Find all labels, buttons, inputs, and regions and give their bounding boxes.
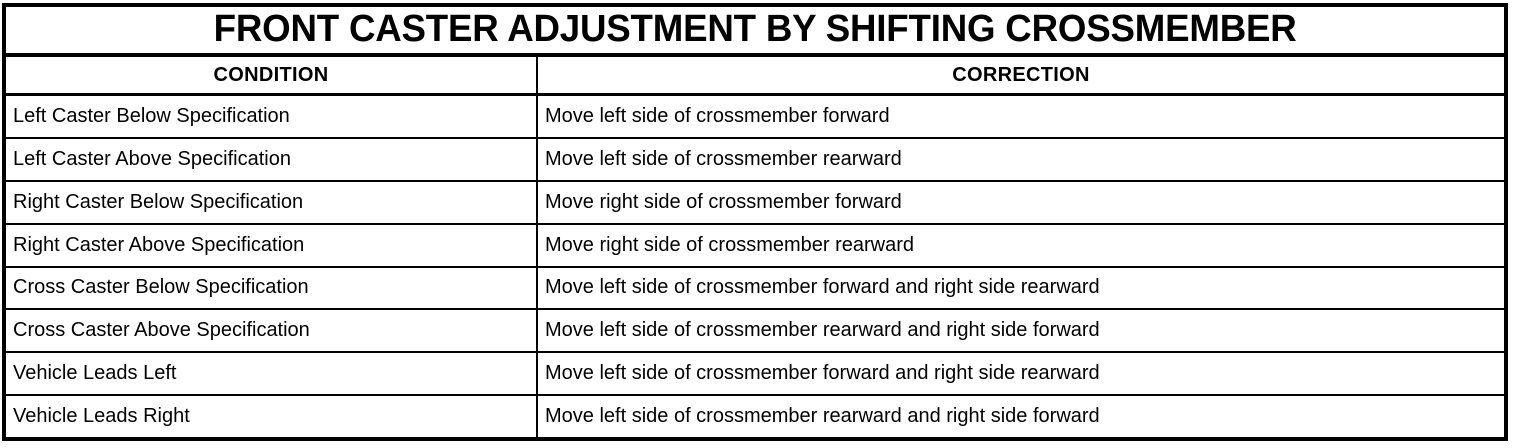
cell-correction: Move left side of crossmember forward an… [538,268,1504,309]
cell-condition: Cross Caster Below Specification [6,268,538,309]
cell-correction-text: Move left side of crossmember rearward a… [545,406,1100,427]
column-header-condition-label: CONDITION [214,65,329,85]
cell-correction: Move left side of crossmember forward [538,96,1504,137]
caster-adjustment-table: FRONT CASTER ADJUSTMENT BY SHIFTING CROS… [2,3,1508,441]
cell-correction-text: Move left side of crossmember forward an… [545,363,1100,384]
table-row: Left Caster Above Specification Move lef… [6,139,1504,182]
cell-correction-text: Move left side of crossmember rearward [545,149,902,170]
table-row: Cross Caster Above Specification Move le… [6,310,1504,353]
cell-condition-text: Vehicle Leads Right [13,406,190,427]
cell-condition-text: Left Caster Above Specification [13,149,291,170]
table-row: Vehicle Leads Right Move left side of cr… [6,396,1504,437]
cell-condition: Right Caster Below Specification [6,182,538,223]
cell-correction: Move left side of crossmember rearward [538,139,1504,180]
cell-condition: Right Caster Above Specification [6,225,538,266]
table-title: FRONT CASTER ADJUSTMENT BY SHIFTING CROS… [214,10,1297,50]
cell-condition: Vehicle Leads Left [6,353,538,394]
cell-correction: Move right side of crossmember rearward [538,225,1504,266]
cell-condition-text: Cross Caster Below Specification [13,277,309,298]
cell-condition: Vehicle Leads Right [6,396,538,437]
cell-condition: Left Caster Above Specification [6,139,538,180]
table-row: Cross Caster Below Specification Move le… [6,268,1504,311]
cell-condition-text: Left Caster Below Specification [13,106,290,127]
cell-condition: Left Caster Below Specification [6,96,538,137]
cell-condition-text: Right Caster Above Specification [13,235,304,256]
table-row: Right Caster Below Specification Move ri… [6,182,1504,225]
cell-correction: Move right side of crossmember forward [538,182,1504,223]
column-header-correction: CORRECTION [538,57,1504,93]
cell-correction-text: Move left side of crossmember forward an… [545,277,1100,298]
cell-condition-text: Cross Caster Above Specification [13,320,310,341]
cell-correction-text: Move right side of crossmember rearward [545,235,914,256]
table-row: Right Caster Above Specification Move ri… [6,225,1504,268]
cell-correction: Move left side of crossmember rearward a… [538,396,1504,437]
table-row: Vehicle Leads Left Move left side of cro… [6,353,1504,396]
page-canvas: FRONT CASTER ADJUSTMENT BY SHIFTING CROS… [0,0,1520,448]
cell-correction-text: Move right side of crossmember forward [545,192,902,213]
table-body: Left Caster Below Specification Move lef… [6,96,1504,437]
cell-condition-text: Right Caster Below Specification [13,192,303,213]
cell-condition: Cross Caster Above Specification [6,310,538,351]
cell-correction: Move left side of crossmember forward an… [538,353,1504,394]
cell-condition-text: Vehicle Leads Left [13,363,176,384]
cell-correction: Move left side of crossmember rearward a… [538,310,1504,351]
column-header-condition: CONDITION [6,57,538,93]
cell-correction-text: Move left side of crossmember forward [545,106,890,127]
table-row: Left Caster Below Specification Move lef… [6,96,1504,139]
column-header-correction-label: CORRECTION [952,65,1089,85]
cell-correction-text: Move left side of crossmember rearward a… [545,320,1100,341]
table-title-row: FRONT CASTER ADJUSTMENT BY SHIFTING CROS… [6,7,1504,57]
table-header-row: CONDITION CORRECTION [6,57,1504,96]
